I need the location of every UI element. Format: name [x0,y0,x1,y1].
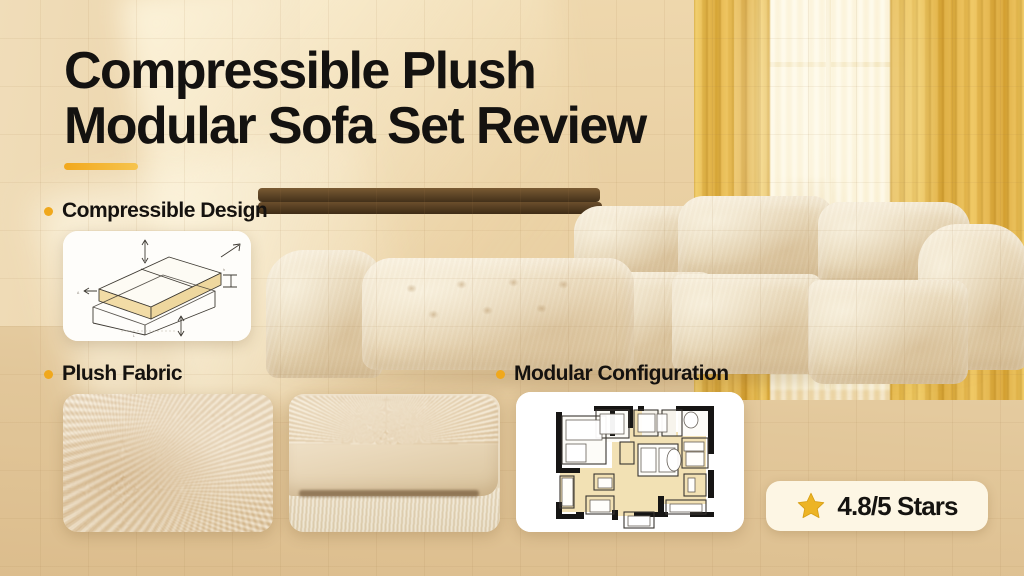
cushion-panel-diagram-icon: A h L [63,231,251,341]
sofa-base-right [258,188,600,202]
feature-label-text: Compressible Design [62,199,267,223]
page-title-line-2: Modular Sofa Set Review [64,97,646,155]
modular-sofa [258,188,1024,388]
sofa-base-left [258,202,602,214]
title-accent-rule [64,163,138,170]
floor-plan-icon [516,392,744,532]
feature-label-compressible: Compressible Design [44,199,267,223]
compressible-design-diagram-card: A h L [63,231,251,341]
feature-label-modular-configuration: Modular Configuration [496,362,729,386]
fur-texture-image [63,394,273,532]
sofa-seat-cushion-1 [672,274,822,374]
bullet-dot-icon [44,370,53,379]
feature-label-text: Modular Configuration [514,362,729,386]
poster-canvas: Compressible Plush Modular Sofa Set Revi… [0,0,1024,576]
star-icon [796,491,826,521]
page-title-line-1: Compressible Plush [64,42,535,100]
svg-text:h: h [223,268,225,272]
sofa-backrest-1 [678,196,834,280]
plush-fabric-swatch-card [63,394,273,532]
sofa-seat-cushion-2 [808,280,968,384]
rating-badge: 4.8/5 Stars [766,481,988,531]
svg-text:L: L [133,334,135,338]
bullet-dot-icon [496,370,505,379]
sofa-chaise-seat [362,258,634,370]
plush-sofa-corner-card [289,394,500,532]
sofa-corner-image [289,394,500,532]
page-title: Compressible Plush Modular Sofa Set Revi… [64,44,764,170]
floorplan-card [516,392,744,532]
bullet-dot-icon [44,207,53,216]
rating-value: 4.8/5 Stars [837,491,957,522]
feature-label-plush-fabric: Plush Fabric [44,362,182,386]
feature-label-text: Plush Fabric [62,362,182,386]
